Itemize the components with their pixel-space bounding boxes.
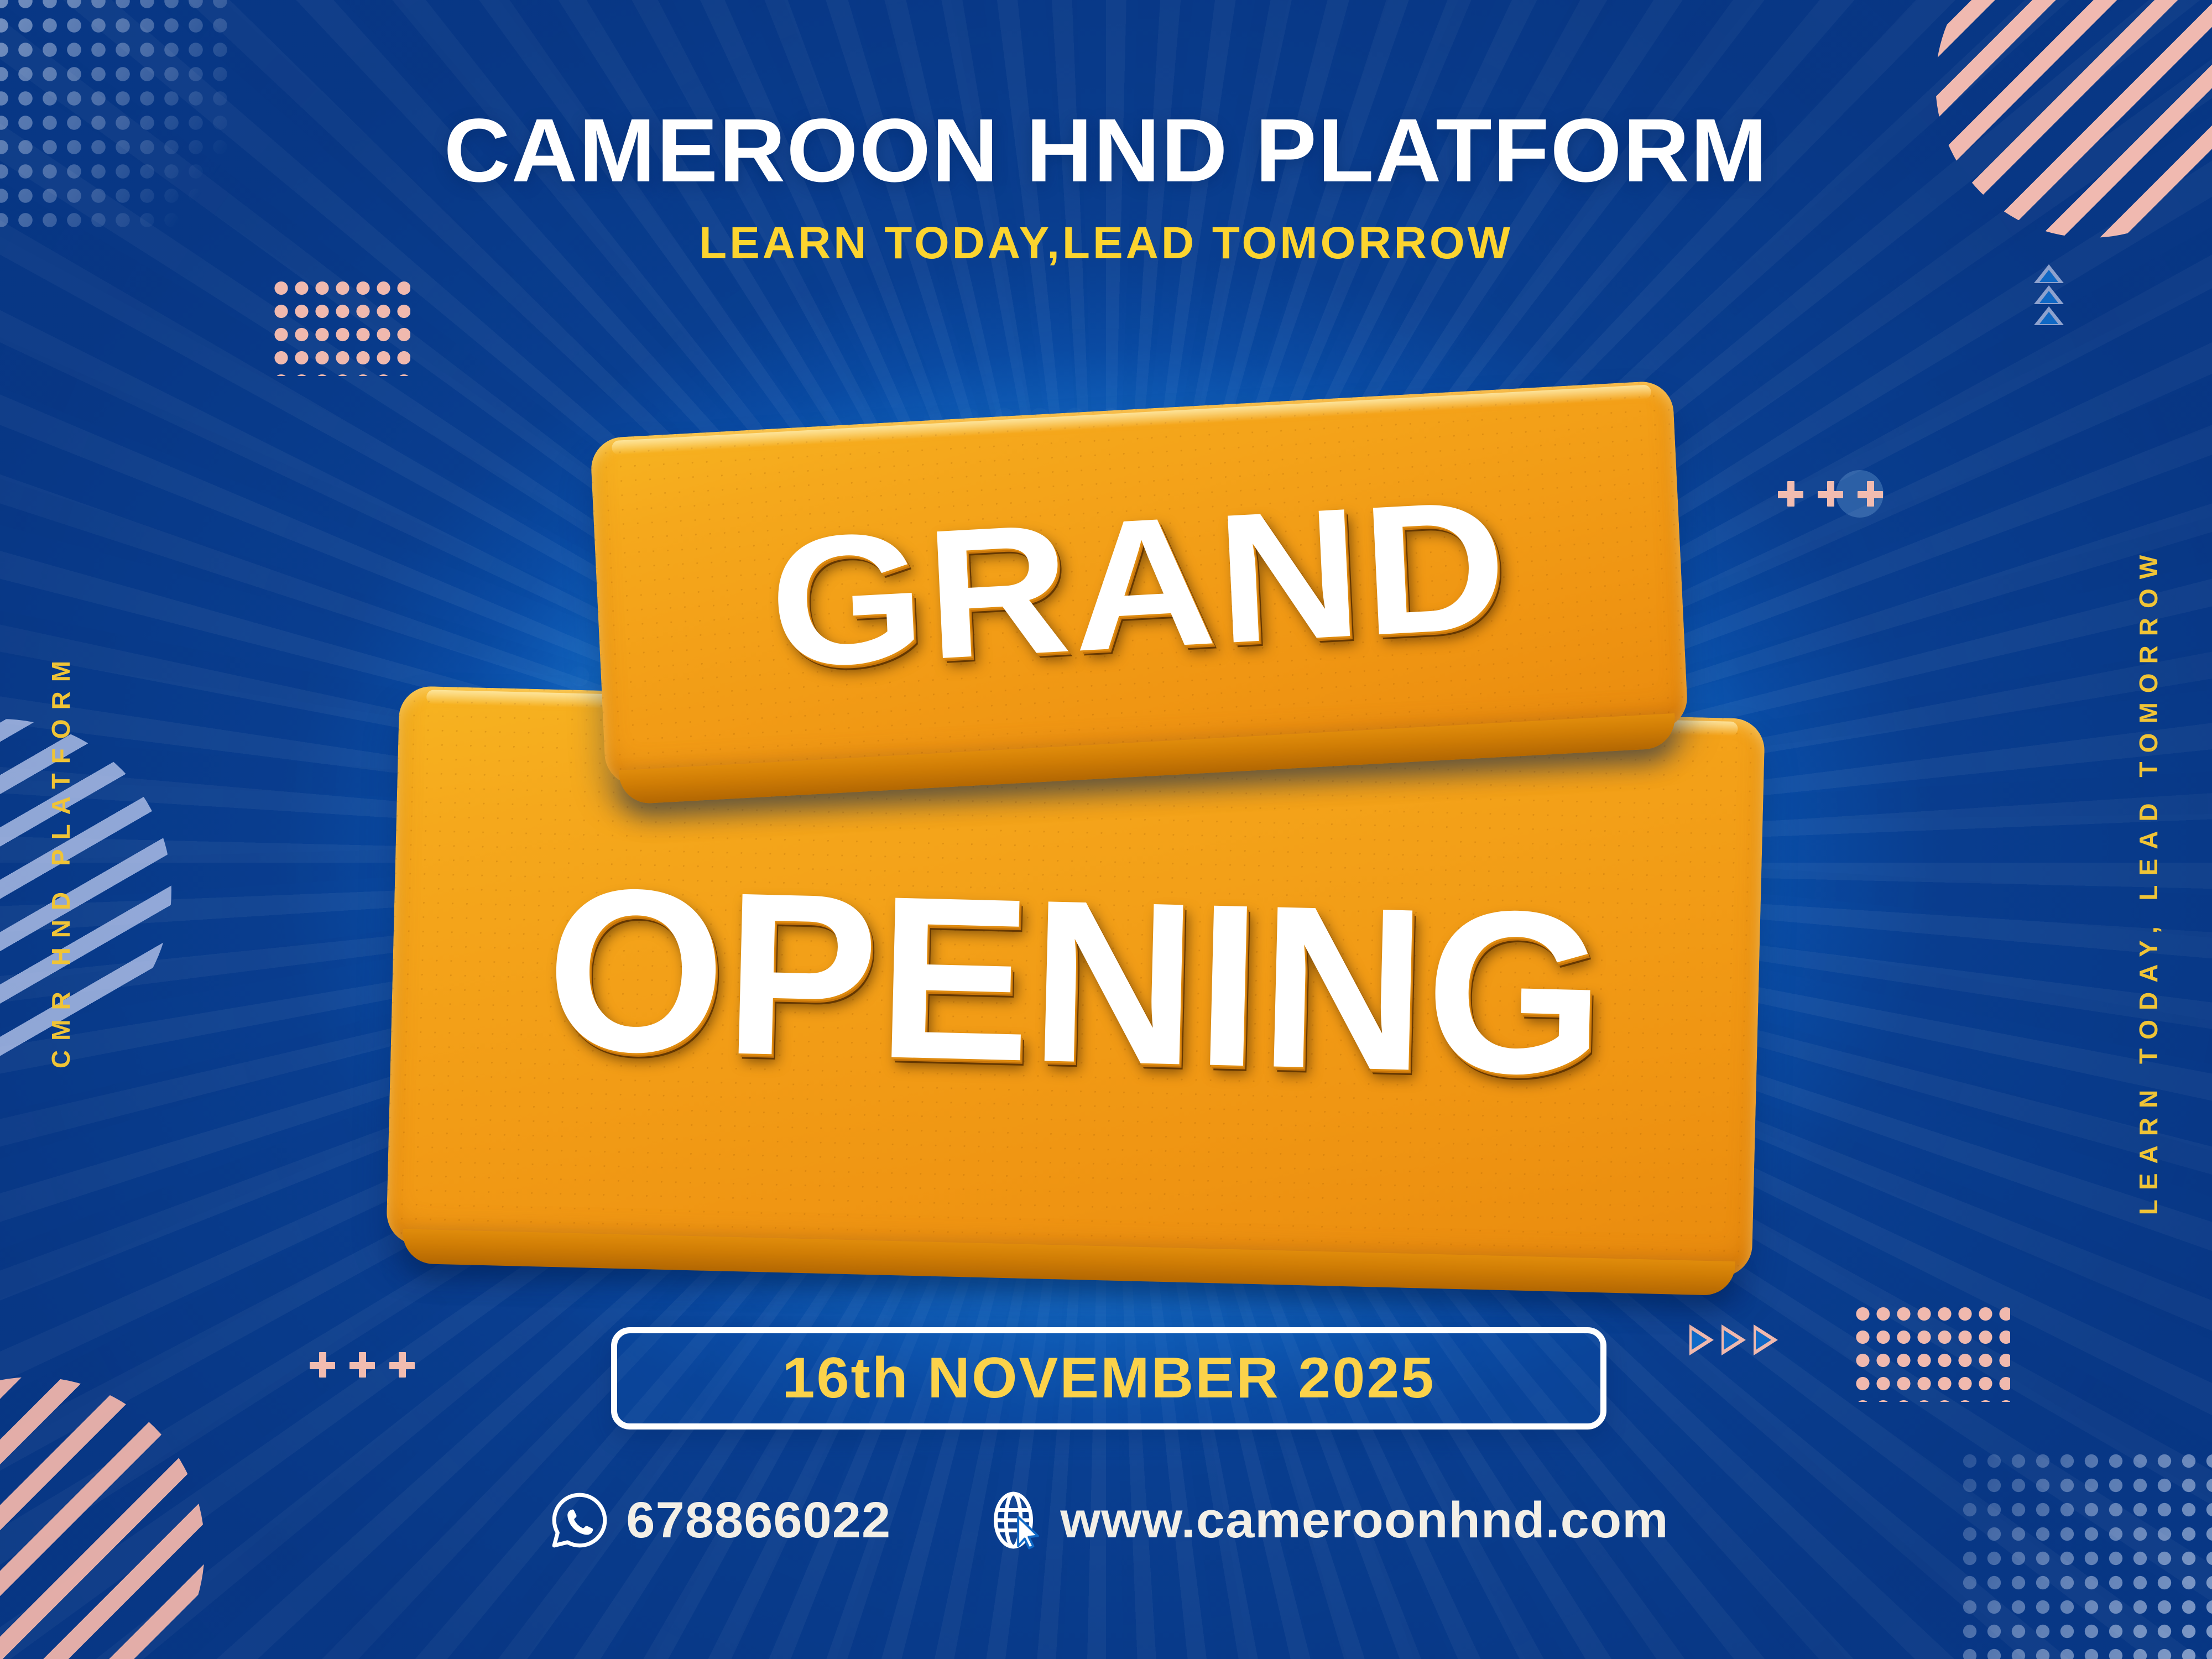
dot-square-left-decoration bbox=[271, 276, 410, 376]
triangle-up-icon bbox=[2034, 264, 2064, 283]
plus-icon bbox=[389, 1352, 415, 1378]
plus-icon bbox=[1778, 481, 1803, 507]
triangle-right-marks-decoration bbox=[1689, 1324, 1778, 1355]
event-date-banner: 16th NOVEMBER 2025 bbox=[611, 1327, 1606, 1430]
plus-icon bbox=[310, 1352, 335, 1378]
dot-square-right-decoration bbox=[1853, 1302, 2010, 1402]
whatsapp-icon bbox=[549, 1490, 610, 1551]
contact-row: 678866022 www.cameroonhnd.com bbox=[0, 1488, 2212, 1553]
grand-plaque: GRAND bbox=[590, 380, 1689, 786]
phone-number: 678866022 bbox=[626, 1491, 891, 1550]
plus-icon bbox=[1818, 481, 1843, 507]
page-title: CAMEROON HND PLATFORM bbox=[0, 105, 2212, 195]
triangle-up-icon bbox=[2034, 306, 2064, 325]
website-contact[interactable]: www.cameroonhnd.com bbox=[982, 1488, 1663, 1553]
dot-grid-bottom-right-decoration bbox=[1958, 1449, 2212, 1659]
triangle-right-icon bbox=[1689, 1324, 1714, 1355]
header-block: CAMEROON HND PLATFORM LEARN TODAY,LEAD T… bbox=[0, 105, 2212, 266]
promo-poster: CAMEROON HND PLATFORM LEARN TODAY,LEAD T… bbox=[0, 0, 2212, 1659]
side-label-left: CMR HND PLATFORM bbox=[46, 556, 76, 1164]
event-date-text: 16th NOVEMBER 2025 bbox=[782, 1345, 1435, 1411]
phone-contact[interactable]: 678866022 bbox=[549, 1490, 889, 1551]
page-subtitle: LEARN TODAY,LEAD TOMORROW bbox=[0, 221, 2212, 266]
plus-marks-left-decoration bbox=[310, 1352, 415, 1378]
plus-icon bbox=[349, 1352, 375, 1378]
globe-cursor-icon bbox=[982, 1488, 1047, 1553]
website-url: www.cameroonhnd.com bbox=[1061, 1491, 1669, 1550]
opening-text: OPENING bbox=[356, 831, 1796, 1133]
side-label-right: LEARN TODAY, LEAD TOMORROW bbox=[2133, 432, 2163, 1328]
plus-marks-right-decoration bbox=[1778, 481, 1883, 507]
triangle-right-icon bbox=[1721, 1324, 1746, 1355]
triangle-up-marks-decoration bbox=[2034, 264, 2064, 325]
triangle-up-icon bbox=[2034, 285, 2064, 304]
triangle-right-icon bbox=[1754, 1324, 1778, 1355]
plus-icon bbox=[1858, 481, 1883, 507]
grand-text: GRAND bbox=[528, 445, 1750, 722]
